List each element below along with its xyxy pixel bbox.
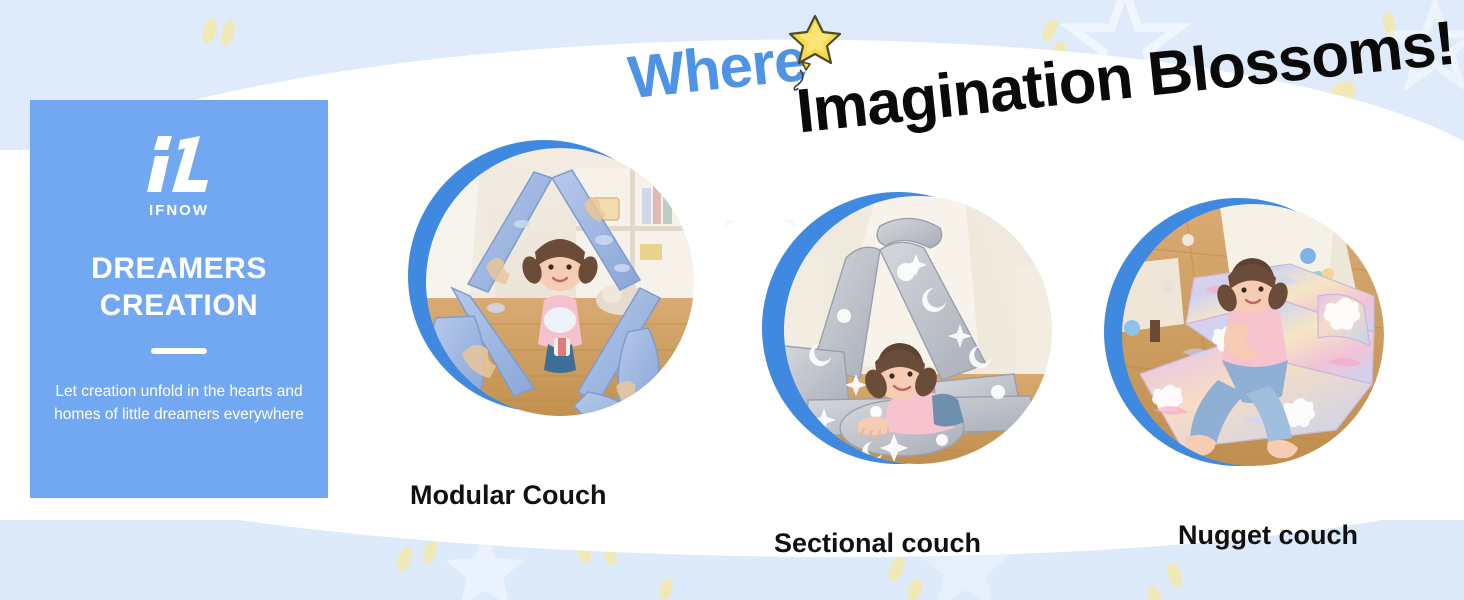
star-balloon-icon [782,2,852,92]
product-card-modular-couch[interactable]: Modular Couch [408,140,698,430]
product-caption: Sectional couch [774,528,981,559]
brand-tagline: Let creation unfold in the hearts and ho… [48,380,310,427]
promo-banner: Where Imagination Blossoms! IFNOW DREAME… [0,0,1464,600]
product-photo-modular-couch [426,148,694,416]
product-photo-nugget-couch [1122,204,1384,466]
product-photo-sectional-couch [784,196,1052,464]
product-card-nugget-couch[interactable]: Nugget couch [1104,198,1392,486]
product-caption: Nugget couch [1178,520,1358,551]
ifnow-logo-icon [142,134,216,196]
brand-title-line1: DREAMERS [91,252,267,285]
divider [151,348,207,354]
brand-wordmark: IFNOW [149,202,209,219]
brand-panel: IFNOW DREAMERS CREATION Let creation unf… [30,100,328,498]
brand-title: DREAMERS CREATION [91,251,267,324]
headline-main-text: Imagination Blossoms! [793,8,1458,148]
brand-title-line2: CREATION [100,289,258,322]
product-card-sectional-couch[interactable]: Sectional couch [762,192,1054,484]
product-caption: Modular Couch [410,480,607,511]
headline: Where Imagination Blossoms! [620,8,1460,138]
